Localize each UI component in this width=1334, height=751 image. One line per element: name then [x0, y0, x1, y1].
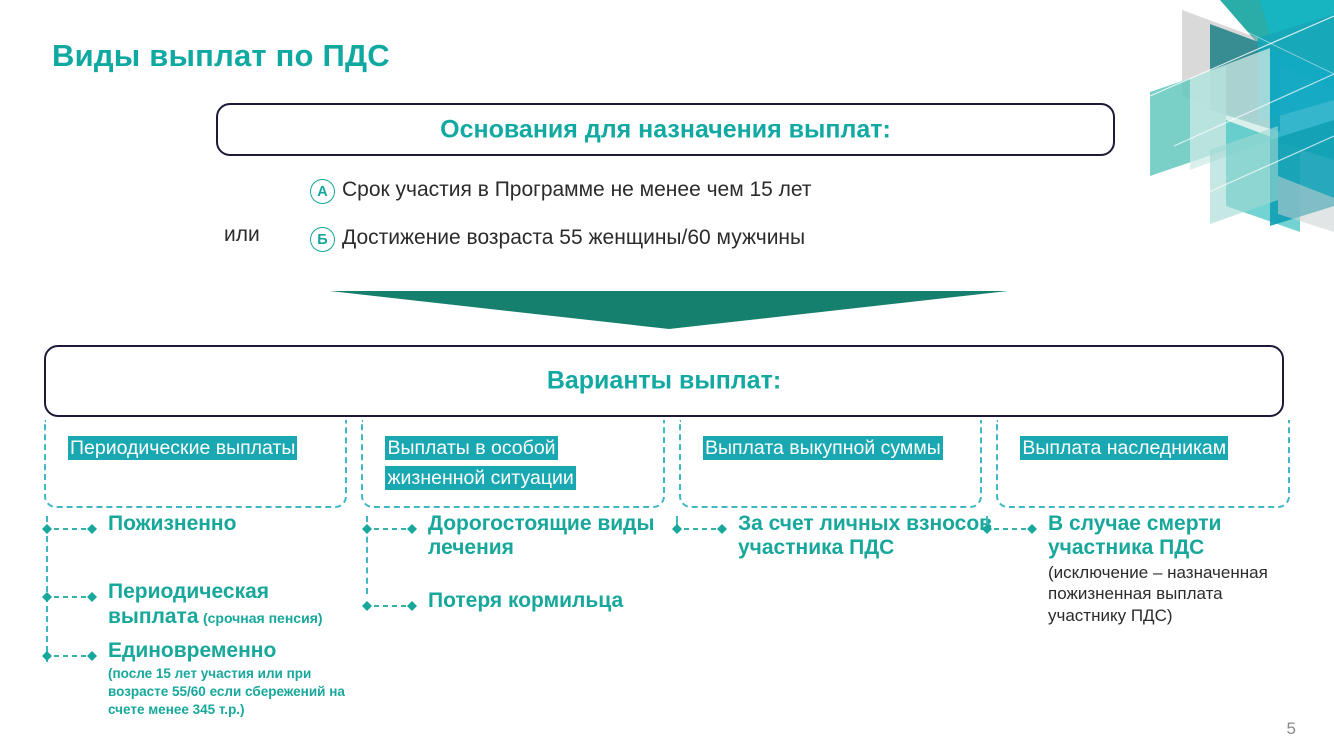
list-item: Периодическая выплата (срочная пенсия)	[34, 580, 364, 629]
decorative-geometric-graphic	[1150, 0, 1334, 232]
variant-column-special-situation: Выплаты в особой жизненной ситуации	[361, 420, 664, 508]
list-item-label: Потеря кормильца	[428, 589, 623, 612]
criteria-badge-b-icon: Б	[310, 227, 335, 252]
variant-column-periodic: Периодические выплаты	[44, 420, 347, 508]
variant-columns: Периодические выплаты Выплаты в особой ж…	[44, 420, 1290, 510]
variants-box: Варианты выплат:	[44, 345, 1284, 417]
grounds-box: Основания для назначения выплат:	[216, 103, 1115, 156]
criteria-list: или А Срок участия в Программе не менее …	[310, 176, 1070, 254]
page-number: 5	[1287, 719, 1296, 739]
criteria-text-a: Срок участия в Программе не менее чем 15…	[342, 176, 812, 203]
list-item: За счет личных взносов участника ПДС	[664, 512, 994, 561]
diamond-connector-icon	[672, 524, 728, 532]
criteria-or-label: или	[224, 223, 260, 247]
variant-column-header-label: Выплата выкупной суммы	[703, 436, 943, 460]
list-item-label: В случае смерти участника ПДС	[1048, 512, 1221, 559]
list-item: Дорогостоящие виды лечения	[354, 512, 674, 561]
list-item-note: (исключение – назначенная пожизненная вы…	[1048, 562, 1304, 627]
down-arrow-icon	[330, 289, 1008, 329]
diamond-connector-icon	[982, 524, 1038, 532]
criteria-item-b: Б Достижение возраста 55 женщины/60 мужч…	[310, 224, 1070, 252]
diamond-connector-icon	[42, 592, 98, 600]
list-item-note: (после 15 лет участия или при возрасте 5…	[108, 665, 364, 718]
variant-column-header-label: Выплаты в особой жизненной ситуации	[385, 436, 575, 490]
variant-column-heirs: Выплата наследникам	[996, 420, 1290, 508]
criteria-item-a: А Срок участия в Программе не менее чем …	[310, 176, 1070, 204]
diamond-connector-icon	[42, 524, 98, 532]
list-item: В случае смерти участника ПДС (исключени…	[974, 512, 1304, 627]
grounds-box-heading: Основания для назначения выплат:	[218, 117, 1113, 142]
variant-column-surrender-sum: Выплата выкупной суммы	[679, 420, 982, 508]
variant-column-header-label: Выплата наследникам	[1020, 436, 1228, 460]
list-item-label: Дорогостоящие виды лечения	[428, 512, 654, 559]
diamond-connector-icon	[362, 601, 418, 609]
slide-root: Виды выплат по ПДС Основания для назначе…	[0, 0, 1334, 751]
variants-box-heading: Варианты выплат:	[46, 369, 1282, 394]
list-item-label: За счет личных взносов участника ПДС	[738, 512, 992, 559]
diamond-connector-icon	[362, 524, 418, 532]
list-item: Единовременно (после 15 лет участия или …	[34, 639, 364, 718]
detail-list-special-situation: Дорогостоящие виды лечения Потеря кормил…	[354, 512, 674, 613]
detail-list-heirs: В случае смерти участника ПДС (исключени…	[974, 512, 1304, 627]
list-item-label: Единовременно	[108, 639, 276, 662]
page-title: Виды выплат по ПДС	[52, 38, 390, 74]
criteria-text-b: Достижение возраста 55 женщины/60 мужчин…	[342, 224, 805, 251]
detail-list-periodic: Пожизненно Периодическая выплата (срочна…	[34, 512, 364, 718]
variant-detail-lists: Пожизненно Периодическая выплата (срочна…	[34, 512, 1304, 742]
detail-list-surrender-sum: За счет личных взносов участника ПДС	[664, 512, 994, 561]
criteria-badge-a-icon: А	[310, 179, 335, 204]
diamond-connector-icon	[42, 651, 98, 659]
variant-column-header-label: Периодические выплаты	[68, 436, 297, 460]
list-item-inline-note: (срочная пенсия)	[203, 610, 323, 626]
list-item: Потеря кормильца	[354, 589, 674, 613]
list-item-label: Пожизненно	[108, 512, 236, 535]
list-item: Пожизненно	[34, 512, 364, 536]
